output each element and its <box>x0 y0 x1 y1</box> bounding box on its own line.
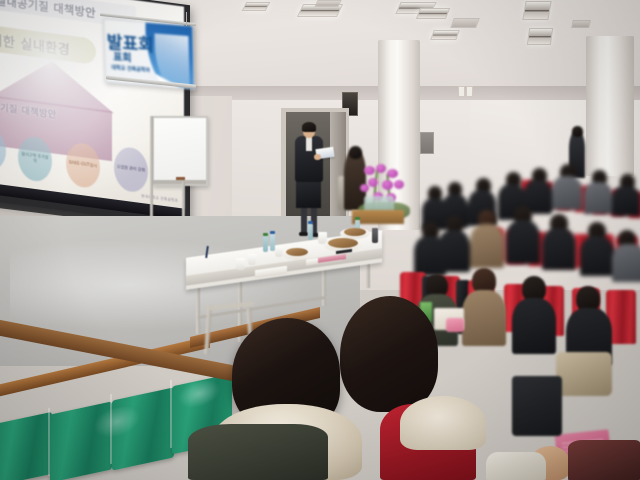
bottle-cap <box>270 231 275 234</box>
attendee-body <box>462 290 506 346</box>
paper-cup[interactable] <box>236 258 245 270</box>
bottle-cap <box>355 217 360 220</box>
structural-column <box>586 36 634 176</box>
foreground-attendee-2-hair <box>340 296 438 412</box>
foreground-attendee-2-collar <box>400 396 486 450</box>
bench-seam <box>170 380 172 448</box>
food-portion <box>328 238 358 248</box>
standing-attendee-head <box>572 126 583 137</box>
foreground-attendee-1-coat <box>188 424 328 480</box>
auditorium-photo: 실내공기질 대책방안 쾌적한 실내환경 실내공기질 대책방안 환기구역 추가설치… <box>0 0 640 480</box>
water-bottle[interactable] <box>372 228 378 243</box>
wall-outlet[interactable] <box>466 86 473 97</box>
ceiling-light-fixture <box>522 1 551 20</box>
ceiling-light-fixture <box>430 30 460 40</box>
wall-outlet[interactable] <box>458 86 465 97</box>
pink-item[interactable] <box>446 318 464 332</box>
wall-speaker <box>420 132 434 154</box>
bench-seam <box>48 408 50 476</box>
food-portion <box>286 248 308 256</box>
water-bottle[interactable] <box>263 236 268 252</box>
bottle-cap <box>263 233 268 236</box>
ceiling-air-vent <box>450 18 480 28</box>
water-bottle[interactable] <box>308 224 313 240</box>
ceiling-light-fixture <box>416 8 450 19</box>
food-portion <box>344 228 366 236</box>
foreground-attendee-3-body <box>568 440 640 480</box>
foreground-attendee-3-sleeve <box>486 452 546 480</box>
bench-panel[interactable] <box>0 412 52 480</box>
attendee-body <box>512 298 556 354</box>
ceiling-light-fixture <box>527 28 553 45</box>
water-bottle[interactable] <box>270 234 275 251</box>
bottle-cap <box>308 221 313 224</box>
tote-bag[interactable] <box>512 376 562 436</box>
paper-cup[interactable] <box>248 254 256 265</box>
ceiling-air-vent <box>571 20 591 28</box>
handbag[interactable] <box>556 352 612 396</box>
bench-seam <box>110 394 112 464</box>
